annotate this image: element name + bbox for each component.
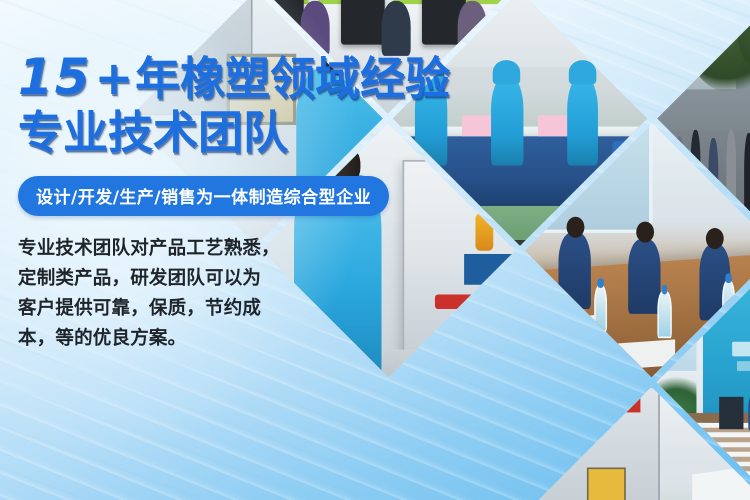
headline-line-1-text: 年橡塑领域经验 [135,52,450,105]
body-line-3: 客户提供可靠，保质，节约成 [18,294,280,324]
headline-line-2: 专业技术团队 [18,110,488,156]
page-title: 15+年橡塑领域经验 专业技术团队 [18,52,488,156]
headline-years-number: 15 [18,48,95,106]
headline-line-1: 15+年橡塑领域经验 [18,52,488,103]
headline-plus-sign: + [95,51,136,105]
status-badge: 设计/开发/生产/销售为一体制造综合型企业 [18,176,389,216]
body-paragraph: 专业技术团队对产品工艺熟悉， 定制类产品，研发团队可以为 客户提供可靠，保质，节… [18,234,280,354]
promo-banner: 15+年橡塑领域经验 专业技术团队 设计/开发/生产/销售为一体制造综合型企业 … [0,0,750,500]
body-line-4: 本，等的优良方案。 [18,324,280,354]
body-line-2: 定制类产品，研发团队可以为 [18,264,280,294]
body-line-1: 专业技术团队对产品工艺熟悉， [18,234,280,264]
text-content-column: 15+年橡塑领域经验 专业技术团队 设计/开发/生产/销售为一体制造综合型企业 … [18,52,488,354]
